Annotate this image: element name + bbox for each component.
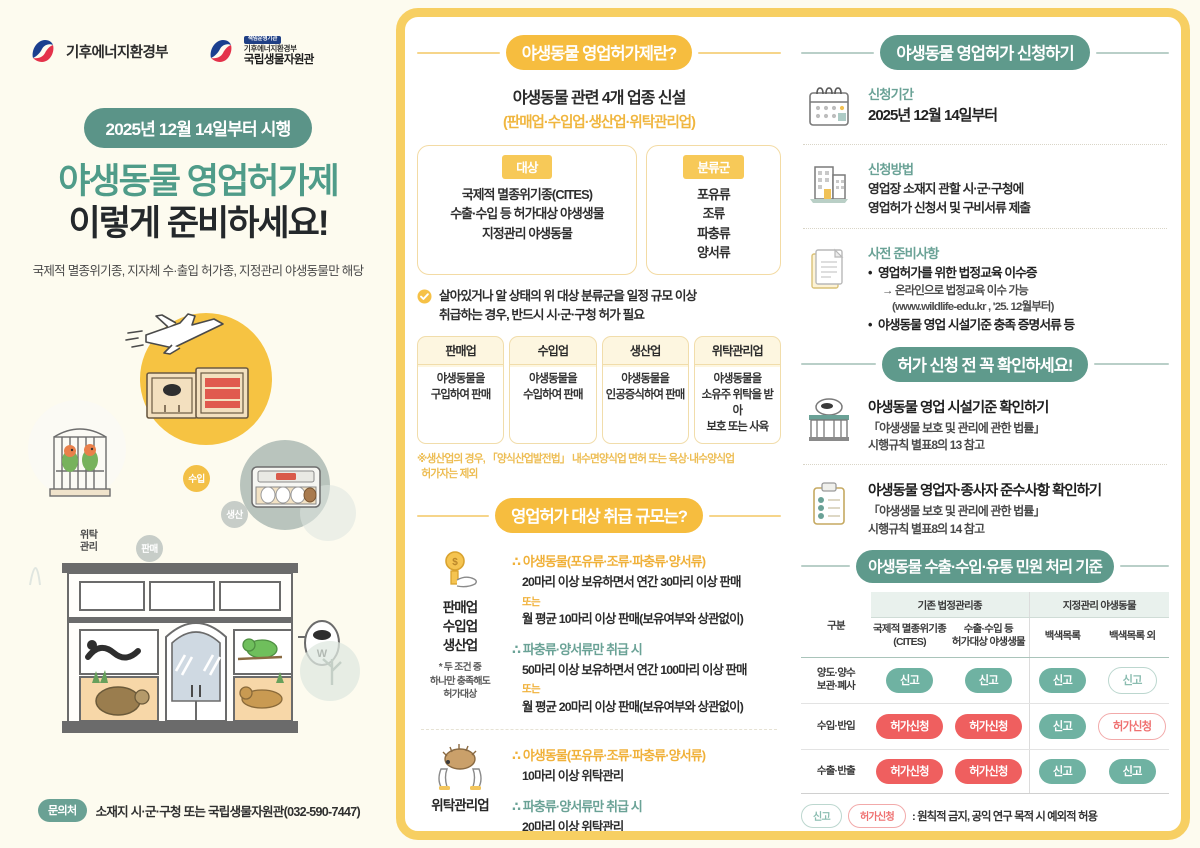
scale-group-sale-right: ∴ 야생동물(포유류·조류·파충류·양서류) 20마리 이상 보유하면서 연간 … (512, 549, 781, 716)
scale-group-sale: $ 판매업 수입업 생산업 * 두 조건 중 하나만 충족 (417, 549, 781, 716)
apply-method-label: 신청방법 (868, 159, 1169, 178)
apply-period-label: 신청기간 (868, 84, 1169, 103)
star-line3: 허가대상 (417, 688, 503, 702)
rule-left-4 (801, 363, 876, 365)
biz-desc-0: 야생동물을 구입하여 판매 (421, 371, 500, 403)
cell-0-2: 신고 (1029, 657, 1095, 703)
apply-prep-bullet-2: 야생동물 영업 시설기준 충족 증명서류 등 (868, 316, 1169, 335)
sub3-l1: 백색목록 외 (1109, 631, 1155, 642)
middle-column: 야생동물 영업허가제란? 야생동물 관련 4개 업종 신설 (판매업·수입업·생… (405, 17, 791, 831)
status-badge: 신고 (1108, 667, 1157, 694)
coin-hand-icon: $ (417, 549, 503, 595)
apply-method-line1: 영업장 소재지 관할 시·군·구청에 (868, 180, 1169, 199)
biz-desc-3-l3: 보호 또는 사육 (706, 421, 768, 433)
contact-badge: 문의처 (38, 799, 87, 822)
pet-shop-icon: W (62, 563, 339, 733)
effective-date-badge: 2025년 12월 14일부터 시행 (84, 108, 313, 148)
illustration-tag-import: 수입 (183, 465, 210, 492)
cell-1-1: 허가신청 (948, 703, 1029, 749)
ministry-name: 기후에너지환경부 (66, 41, 168, 62)
scale-biz-names-entrust: 위탁관리업 (417, 797, 503, 816)
footnote-line2: 허가자는 제외 (421, 468, 477, 480)
biz-title-1: 수입업 (510, 342, 595, 365)
table-legend: 신고 허가신청 : 원칙적 금지, 공익 연구 목적 시 예외적 허용 (801, 804, 1169, 828)
biz-desc-1-l1: 야생동물을 (529, 373, 577, 385)
cell-2-1: 허가신청 (948, 749, 1029, 793)
business-type-production: 생산업 야생동물을 인공증식하여 판매 (602, 336, 689, 444)
hero-title-line1: 야생동물 영업허가제 (0, 162, 396, 201)
rule-left-3 (801, 52, 874, 54)
check-facility-sub1: 「야생생물 보호 및 관리에 관한 법률」 (868, 420, 1169, 437)
agency-name: 국립생물자원관 (244, 54, 314, 66)
target-group-boxes: 대상 국제적 멸종위기종(CITES) 수출·수입 등 허가대상 야생생물 지정… (417, 145, 781, 275)
right-panel: 야생동물 영업허가제란? 야생동물 관련 4개 업종 신설 (판매업·수입업·생… (396, 0, 1200, 848)
section-header-apply: 야생동물 영업허가 신청하기 (801, 35, 1169, 70)
taegeuk-icon-2 (206, 36, 236, 66)
group-line-1: 포유류 (655, 185, 772, 204)
rule-right (698, 52, 781, 54)
scale-group-sale-left: $ 판매업 수입업 생산업 * 두 조건 중 하나만 충족 (417, 549, 503, 716)
scale-biz-line3: 생산업 (417, 637, 503, 656)
rule-right-3 (1096, 52, 1169, 54)
star-line2: 하나만 충족해도 (417, 675, 503, 689)
rule-left-2 (417, 515, 489, 517)
entrust-rule2-body: 20마리 이상 위탁관리 (522, 818, 781, 836)
business-type-import: 수입업 야생동물을 수입하여 판매 (509, 336, 596, 444)
apply-method-line2: 영업허가 신청서 및 구비서류 제출 (868, 199, 1169, 218)
legend-chip-permit: 허가신청 (848, 804, 906, 828)
illustration-tag-sale: 판매 (136, 535, 163, 562)
rule-right-2 (709, 515, 781, 517)
group-line-2: 조류 (655, 204, 772, 223)
biz-desc-0-l1: 야생동물을 (437, 373, 485, 385)
apply-prep-arrow-1: → 온라인으로 법정교육 이수 가능 (868, 283, 1169, 300)
apply-prep-bullet-1: 영업허가를 위한 법정교육 이수증 (868, 264, 1169, 283)
illustration-tag-entrust: 위탁 관리 (80, 530, 97, 554)
scale-rule2-body: 50마리 이상 보유하면서 연간 100마리 이상 판매 또는 월 평균 20마… (522, 661, 781, 716)
agency-logo: 책임운영기관 기후에너지환경부 국립생물자원관 (206, 36, 314, 66)
table-subheader-3: 백색목록 외 (1095, 617, 1169, 657)
biz-desc-3: 야생동물을 소유주 위탁을 받아 보호 또는 사육 (698, 371, 777, 435)
scale-group-entrust-right: ∴ 야생동물(포유류·조류·파충류·양서류) 10마리 이상 위탁관리 ∴ 파충… (512, 743, 781, 836)
apply-prep-label: 사전 준비사항 (868, 243, 1169, 262)
biz-title-2: 생산업 (603, 342, 688, 365)
rule-right-5 (1120, 565, 1169, 567)
parrots-icon (62, 444, 98, 472)
scale-rule1-or: 또는 (522, 596, 540, 608)
cell-0-1: 신고 (948, 657, 1029, 703)
check-compliance-body: 야생동물 영업자·종사자 준수사항 확인하기 「야생생물 보호 및 관리에 관한… (868, 477, 1169, 538)
rule-left-5 (801, 565, 850, 567)
check-compliance-head: 야생동물 영업자·종사자 준수사항 확인하기 (868, 479, 1169, 500)
entrust-biz-line1: 위탁관리업 (417, 797, 503, 816)
section-header-scale: 영업허가 대상 취급 규모는? (417, 498, 781, 533)
biz-desc-3-l1: 야생동물을 (714, 373, 762, 385)
calendar-icon (801, 82, 857, 134)
section-title-what: 야생동물 영업허가제란? (506, 35, 692, 70)
what-subtitle-bold: 야생동물 관련 4개 업종 신설 (417, 84, 781, 108)
table-header-group-row: 구분 기존 법정관리종 지정관리 야생동물 (801, 592, 1169, 618)
footnote-line1: ※생산업의 경우, 「양식산업발전법」 내수면양식업 면허 또는 육상·내수양식… (417, 453, 734, 465)
scale-rule2-body1: 50마리 이상 보유하면서 연간 100마리 이상 판매 (522, 663, 747, 677)
group-box: 분류군 포유류 조류 파충류 양서류 (646, 145, 781, 275)
apply-item-method: 신청방법 영업장 소재지 관할 시·군·구청에 영업허가 신청서 및 구비서류 … (801, 157, 1169, 218)
sub2-l1: 백색목록 (1045, 631, 1080, 642)
status-badge: 허가신청 (876, 714, 942, 739)
spacer-2 (512, 785, 781, 796)
target-line-1: 국제적 멸종위기종(CITES) (426, 185, 628, 204)
scale-rule1-body: 20마리 이상 보유하면서 연간 30마리 이상 판매 또는 월 평균 10마리… (522, 573, 781, 628)
section-title-apply: 야생동물 영업허가 신청하기 (880, 35, 1089, 70)
table-row: 수입·반입 허가신청 허가신청 신고 허가신청 (801, 703, 1169, 749)
biz-desc-3-l2: 소유주 위탁을 받아 (702, 389, 773, 417)
apply-period-body: 신청기간 2025년 12월 14일부터 (868, 82, 1169, 126)
scale-rule1-head: ∴ 야생동물(포유류·조류·파충류·양서류) (512, 551, 781, 570)
check-note-line2: 취급하는 경우, 반드시 시·군·구청 허가 필요 (439, 308, 644, 322)
status-badge: 허가신청 (1098, 713, 1166, 740)
biz-desc-2-l1: 야생동물을 (621, 373, 669, 385)
documents-icon (801, 241, 857, 293)
hero-note: 국제적 멸종위기종, 지자체 수·출입 허가종, 지정관리 야생동물만 해당 (0, 260, 396, 279)
scale-biz-names-sale: 판매업 수입업 생산업 (417, 599, 503, 655)
contact-text: 소재지 시·군·구청 또는 국립생물자원관(032-590-7447) (96, 801, 360, 820)
check-note-text: 살아있거나 알 상태의 위 대상 분류군을 일정 규모 이상 취급하는 경우, … (439, 287, 696, 325)
scale-rule2-or: 또는 (522, 683, 540, 695)
scale-rule1-body1: 20마리 이상 보유하면서 연간 30마리 이상 판매 (522, 575, 741, 589)
cell-0-0: 신고 (871, 657, 948, 703)
section-header-what: 야생동물 영업허가제란? (417, 35, 781, 70)
bird-cage-icon (50, 429, 110, 496)
apply-method-body: 신청방법 영업장 소재지 관할 시·군·구청에 영업허가 신청서 및 구비서류 … (868, 157, 1169, 218)
entrust-rule2-head: ∴ 파충류·양서류만 취급 시 (512, 796, 781, 815)
target-line-2: 수출·수입 등 허가대상 야생생물 (426, 204, 628, 223)
illustration-tag-entrust-line2: 관리 (80, 542, 97, 554)
section-title-scale: 영업허가 대상 취급 규모는? (495, 498, 703, 533)
section-header-table: 야생동물 수출·수입·유통 민원 처리 기준 (801, 550, 1169, 583)
illustration-tag-production: 생산 (221, 501, 248, 528)
scale-divider (421, 729, 777, 730)
status-badge: 허가신청 (955, 759, 1021, 784)
check-note: 살아있거나 알 상태의 위 대상 분류군을 일정 규모 이상 취급하는 경우, … (417, 287, 781, 325)
scale-rule2-body2: 월 평균 20마리 이상 판매(보유여부와 상관없이) (522, 700, 743, 714)
ministry-logo: 기후에너지환경부 (28, 36, 168, 66)
status-badge: 허가신청 (876, 759, 942, 784)
section-title-table: 야생동물 수출·수입·유통 민원 처리 기준 (856, 550, 1114, 583)
status-badge: 신고 (1039, 759, 1086, 784)
scale-star-note: * 두 조건 중 하나만 충족해도 허가대상 (417, 661, 503, 702)
table-subheader-1: 수출·수입 등 허가대상 야생생물 (948, 617, 1029, 657)
table-subheader-2: 백색목록 (1029, 617, 1095, 657)
panel-inner: 야생동물 영업허가제란? 야생동물 관련 4개 업종 신설 (판매업·수입업·생… (396, 8, 1190, 840)
biz-desc-1-l2: 수입하여 판매 (523, 389, 583, 401)
status-badge: 허가신청 (955, 714, 1021, 739)
check-compliance-sub1: 「야생생물 보호 및 관리에 관한 법률」 (868, 503, 1169, 520)
sub1-l1: 수출·수입 등 (964, 624, 1013, 635)
shop-front-icon (801, 394, 857, 446)
legend-text: : 원칙적 금지, 공익 연구 목적 시 예외적 허용 (912, 808, 1097, 824)
building-icon (801, 157, 857, 209)
check-compliance-sub2: 시행규칙 별표8의 14 참고 (868, 521, 1169, 538)
biz-desc-2-l2: 인공증식하여 판매 (606, 389, 685, 401)
biz-desc-0-l2: 구입하여 판매 (431, 389, 491, 401)
check-facility-body: 야생동물 영업 시설기준 확인하기 「야생생물 보호 및 관리에 관한 법률」 … (868, 394, 1169, 455)
business-type-boxes: 판매업 야생동물을 구입하여 판매 수입업 야생동물을 수입하여 판매 (417, 336, 781, 444)
section-header-check: 허가 신청 전 꼭 확인하세요! (801, 347, 1169, 382)
biz-desc-2: 야생동물을 인공증식하여 판매 (606, 371, 685, 403)
hands-hedgehog-icon (417, 743, 503, 793)
check-note-line1: 살아있거나 알 상태의 위 대상 분류군을 일정 규모 이상 (439, 289, 696, 303)
check-facility-sub2: 시행규칙 별표8의 13 참고 (868, 437, 1169, 454)
agency-text-stack: 책임운영기관 기후에너지환경부 국립생물자원관 (244, 36, 314, 66)
table-row: 양도·양수 보관·폐사 신고 신고 신고 신고 (801, 657, 1169, 703)
entrust-rule1-body: 10마리 이상 위탁관리 (522, 767, 781, 785)
cell-2-0: 허가신청 (871, 749, 948, 793)
clipboard-check-icon (801, 477, 857, 529)
apply-period-value: 2025년 12월 14일부터 (868, 105, 1169, 126)
status-badge: 신고 (965, 668, 1012, 693)
right-column: 야생동물 영업허가 신청하기 (791, 17, 1181, 831)
biz-desc-1: 야생동물을 수입하여 판매 (513, 371, 592, 403)
rule-left (417, 52, 500, 54)
status-badge: 신고 (1109, 759, 1156, 784)
table-corner-label: 구분 (801, 592, 871, 658)
cell-1-3: 허가신청 (1095, 703, 1169, 749)
cell-1-0: 허가신청 (871, 703, 948, 749)
illustration-tag-entrust-line1: 위탁 (80, 530, 97, 542)
contact-row: 문의처 소재지 시·군·구청 또는 국립생물자원관(032-590-7447) (38, 799, 360, 822)
incubator-icon (252, 467, 320, 507)
sub0-l2: (CITES) (893, 637, 926, 648)
business-type-sale: 판매업 야생동물을 구입하여 판매 (417, 336, 504, 444)
row0-l1: 양도·양수 (817, 668, 855, 679)
infographic-page: 기후에너지환경부 책임운영기관 기후에너지환경부 국립생물자원관 2025년 1… (0, 0, 1200, 848)
cell-0-3: 신고 (1095, 657, 1169, 703)
sub0-l1: 국제적 멸종위기종 (873, 624, 946, 635)
check-item-facility: 야생동물 영업 시설기준 확인하기 「야생생물 보호 및 관리에 관한 법률」 … (801, 394, 1169, 455)
check-divider (803, 464, 1167, 465)
check-circle-icon (417, 289, 432, 309)
scale-group-entrust-left: 위탁관리업 (417, 743, 503, 836)
row0-l2: 보관·폐사 (817, 681, 855, 692)
production-footnote: ※생산업의 경우, 「양식산업발전법」 내수면양식업 면허 또는 육상·내수양식… (417, 452, 781, 483)
svg-text:$: $ (452, 557, 458, 568)
target-line-3: 지정관리 야생동물 (426, 224, 628, 243)
status-badge: 신고 (1039, 714, 1086, 739)
agency-parent-name: 기후에너지환경부 (244, 45, 314, 53)
scale-rule1-body2: 월 평균 10마리 이상 판매(보유여부와 상관없이) (522, 612, 743, 626)
what-subtitle-light: (판매업·수입업·생산업·위탁관리업) (417, 111, 781, 132)
table-subheader-0: 국제적 멸종위기종 (CITES) (871, 617, 948, 657)
agency-badge: 책임운영기관 (244, 36, 281, 44)
apply-divider-2 (803, 228, 1167, 229)
apply-item-period: 신청기간 2025년 12월 14일부터 (801, 82, 1169, 134)
scale-rule2-head: ∴ 파충류·양서류만 취급 시 (512, 639, 781, 658)
scale-biz-line1: 판매업 (417, 599, 503, 618)
scale-group-entrust: 위탁관리업 ∴ 야생동물(포유류·조류·파충류·양서류) 10마리 이상 위탁관… (417, 743, 781, 836)
group-line-3: 파충류 (655, 224, 772, 243)
section-title-check: 허가 신청 전 꼭 확인하세요! (882, 347, 1089, 382)
scale-biz-line2: 수입업 (417, 618, 503, 637)
cell-2-3: 신고 (1095, 749, 1169, 793)
wooden-crates-icon (147, 368, 248, 418)
check-facility-head: 야생동물 영업 시설기준 확인하기 (868, 396, 1169, 417)
logo-row: 기후에너지환경부 책임운영기관 기후에너지환경부 국립생물자원관 (0, 0, 396, 66)
illustration-artwork: W (0, 285, 396, 755)
row-label-0: 양도·양수 보관·폐사 (801, 657, 871, 703)
hero: 2025년 12월 14일부터 시행 야생동물 영업허가제 이렇게 준비하세요!… (0, 108, 396, 278)
row-label-1: 수입·반입 (801, 703, 871, 749)
apply-prep-arrow-2: (www.wildlife-edu.kr , '25. 12월부터) (868, 299, 1169, 316)
rule-right-4 (1094, 363, 1169, 365)
spacer (512, 628, 781, 639)
apply-item-prep: 사전 준비사항 영업허가를 위한 법정교육 이수증 → 온라인으로 법정교육 이… (801, 241, 1169, 335)
left-column: 기후에너지환경부 책임운영기관 기후에너지환경부 국립생물자원관 2025년 1… (0, 0, 396, 848)
status-badge: 신고 (886, 668, 933, 693)
airplane-icon (146, 314, 223, 354)
group-line-4: 양서류 (655, 243, 772, 262)
cell-2-2: 신고 (1029, 749, 1095, 793)
illustration: W 수입 생산 판매 위탁 관리 (0, 285, 396, 755)
sub1-l2: 허가대상 야생생물 (952, 637, 1025, 648)
apply-prep-body: 사전 준비사항 영업허가를 위한 법정교육 이수증 → 온라인으로 법정교육 이… (868, 241, 1169, 335)
biz-title-3: 위탁관리업 (695, 342, 780, 365)
apply-divider-1 (803, 144, 1167, 145)
table-row: 수출·반출 허가신청 허가신청 신고 신고 (801, 749, 1169, 793)
business-type-entrust: 위탁관리업 야생동물을 소유주 위탁을 받아 보호 또는 사육 (694, 336, 781, 444)
star-line1: * 두 조건 중 (417, 661, 503, 675)
hero-title-line2: 이렇게 준비하세요! (0, 204, 396, 243)
entrust-rule1-head: ∴ 야생동물(포유류·조류·파충류·양서류) (512, 745, 781, 764)
processing-criteria-table: 구분 기존 법정관리종 지정관리 야생동물 국제적 멸종위기종 (CITES) … (801, 592, 1169, 794)
cell-1-2: 신고 (1029, 703, 1095, 749)
status-badge: 신고 (1039, 668, 1086, 693)
check-item-compliance: 야생동물 영업자·종사자 준수사항 확인하기 「야생생물 보호 및 관리에 관한… (801, 477, 1169, 538)
table-group-header-1: 지정관리 야생동물 (1029, 592, 1169, 618)
row-label-2: 수출·반출 (801, 749, 871, 793)
legend-chip-report: 신고 (801, 804, 842, 828)
biz-title-0: 판매업 (418, 342, 503, 365)
table-group-header-0: 기존 법정관리종 (871, 592, 1029, 618)
target-box: 대상 국제적 멸종위기종(CITES) 수출·수입 등 허가대상 야생생물 지정… (417, 145, 637, 275)
taegeuk-icon (28, 36, 58, 66)
group-box-title: 분류군 (683, 155, 743, 179)
target-box-title: 대상 (502, 155, 551, 179)
